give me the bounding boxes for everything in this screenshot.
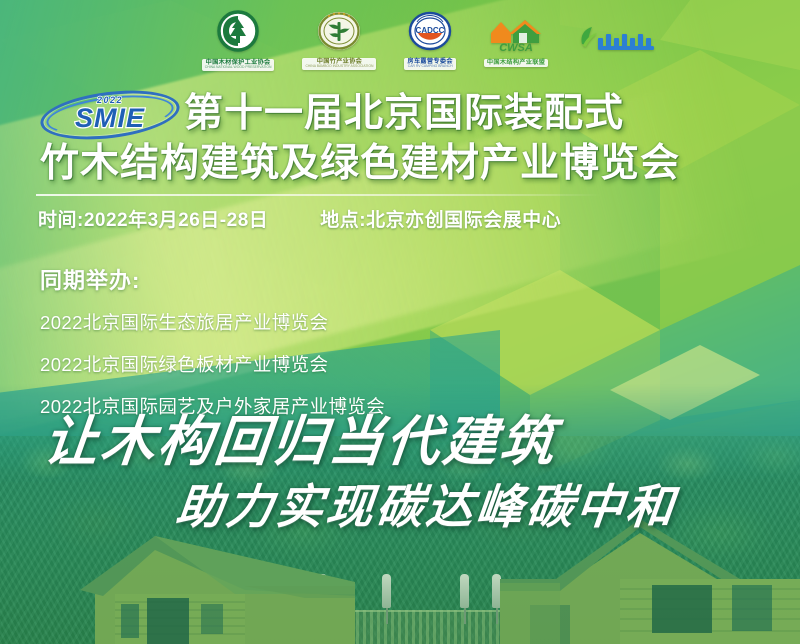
slogan-line-2: 助力实现碳达峰碳中和 bbox=[174, 485, 679, 532]
sponsor-logo[interactable]: SENMEI bbox=[576, 22, 668, 59]
slogan-line-1: 让木构回归当代建筑 bbox=[41, 415, 560, 469]
concurrent-events-block: 同期举办: 2022北京国际生态旅居产业博览会 2022北京国际绿色板材产业博览… bbox=[40, 263, 385, 435]
smie-brand-logo: 2022 SMIE bbox=[40, 92, 180, 138]
title-divider bbox=[36, 194, 601, 196]
event-date: 时间:2022年3月26日-28日 bbox=[38, 205, 268, 232]
sponsor-name-text: 中国木结构产业联盟 bbox=[487, 59, 545, 66]
sponsor-subtitle: CAR RV CAMPING BRANCH bbox=[407, 65, 452, 69]
sponsor-name: 中国竹产业协会 CHINA BAMBOO INDUSTRY ASSOCIATIO… bbox=[302, 58, 376, 70]
cwsa-house-icon: CWSA bbox=[485, 13, 547, 58]
sponsor-subtitle: CHINA BAMBOO INDUSTRY ASSOCIATION bbox=[305, 65, 373, 69]
sponsor-logo[interactable]: 中国竹产业协会 CHINA BAMBOO INDUSTRY ASSOCIATIO… bbox=[302, 10, 376, 70]
page-title-line-1: 第十一届北京国际装配式 bbox=[184, 94, 624, 133]
sponsor-logo[interactable]: CWSA 中国木结构产业联盟 bbox=[484, 13, 548, 68]
senmei-leaf-icon: SENMEI bbox=[576, 22, 668, 59]
concurrent-event-item: 2022北京国际生态旅居产业博览会 bbox=[40, 309, 385, 335]
bamboo-seal-icon bbox=[317, 10, 361, 57]
pine-tree-shield-icon bbox=[216, 9, 260, 58]
exhibition-poster: 中国木材保护工业协会 CHINA NATIONAL WOOD PRESERVAT… bbox=[0, 0, 800, 644]
event-venue: 地点:北京亦创国际会展中心 bbox=[320, 205, 561, 232]
sponsor-name: 房车露营专委会 CAR RV CAMPING BRANCH bbox=[404, 58, 455, 70]
concurrent-event-item: 2022北京国际绿色板材产业博览会 bbox=[40, 351, 385, 377]
page-title-line-2: 竹木结构建筑及绿色建材产业博览会 bbox=[40, 144, 680, 183]
smie-wordmark: SMIE bbox=[40, 105, 180, 132]
concurrent-events-heading: 同期举办: bbox=[40, 263, 385, 295]
cadcc-badge-icon: CADCC bbox=[408, 10, 452, 57]
sponsor-name: 中国木材保护工业协会 CHINA NATIONAL WOOD PRESERVAT… bbox=[202, 59, 275, 71]
svg-text:CWSA: CWSA bbox=[499, 42, 533, 53]
sponsor-logo[interactable]: 中国木材保护工业协会 CHINA NATIONAL WOOD PRESERVAT… bbox=[202, 9, 275, 71]
sponsor-logo[interactable]: CADCC 房车露营专委会 CAR RV CAMPING BRANCH bbox=[404, 10, 455, 70]
sponsor-logo-strip: 中国木材保护工业协会 CHINA NATIONAL WOOD PRESERVAT… bbox=[0, 0, 800, 80]
svg-text:CADCC: CADCC bbox=[416, 26, 445, 35]
sponsor-subtitle: CHINA NATIONAL WOOD PRESERVATION bbox=[205, 66, 272, 70]
event-meta-row: 时间:2022年3月26日-28日 地点:北京亦创国际会展中心 bbox=[38, 205, 758, 232]
sponsor-name: 中国木结构产业联盟 bbox=[484, 59, 548, 68]
